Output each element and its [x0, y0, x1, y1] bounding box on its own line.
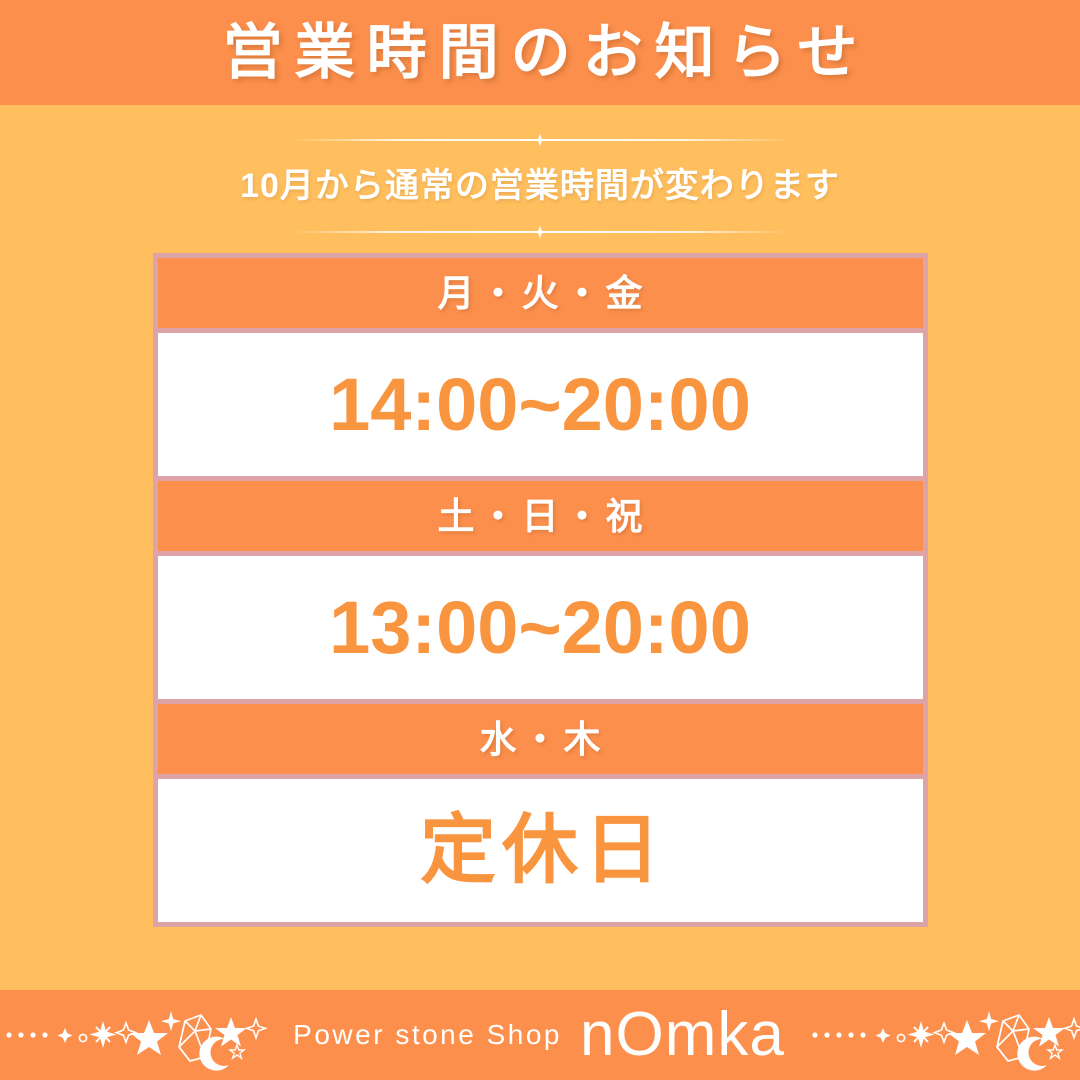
announcement-poster: 営業時間のお知らせ 10月から通常の営業時間が変わります 月・火・金 14:00…	[0, 0, 1080, 1080]
crystal-moon-stars-ornament-icon	[801, 995, 1080, 1075]
page-title: 営業時間のお知らせ	[211, 23, 870, 83]
table-row-header: 土・日・祝	[158, 481, 923, 551]
crystal-moon-stars-ornament-icon	[0, 995, 279, 1075]
table-row-header: 月・火・金	[158, 258, 923, 328]
table-row: 定休日	[158, 779, 923, 922]
shop-label: Power stone Shop	[279, 1019, 580, 1051]
diamond-sparkle-icon	[534, 226, 547, 239]
days-label: 水・木	[475, 721, 606, 758]
hours-value: 14:00~20:00	[329, 368, 751, 442]
divider-top	[290, 133, 790, 147]
subtitle: 10月から通常の営業時間が変わります	[240, 147, 840, 225]
table-row-header: 水・木	[158, 704, 923, 774]
header-band: 営業時間のお知らせ	[0, 0, 1080, 105]
days-label: 月・火・金	[433, 275, 648, 312]
table-row: 13:00~20:00	[158, 556, 923, 699]
schedule-table: 月・火・金 14:00~20:00 土・日・祝 13:00~20:00 水・木 …	[153, 253, 928, 927]
divider-bottom	[290, 225, 790, 239]
table-row: 14:00~20:00	[158, 333, 923, 476]
subtitle-block: 10月から通常の営業時間が変わります	[0, 105, 1080, 239]
schedule-table-wrap: 月・火・金 14:00~20:00 土・日・祝 13:00~20:00 水・木 …	[0, 239, 1080, 990]
days-label: 土・日・祝	[433, 498, 648, 535]
closed-value: 定休日	[414, 813, 666, 889]
brand-name: nOmka	[580, 1004, 801, 1066]
footer-band: Power stone Shop nOmka	[0, 990, 1080, 1080]
hours-value: 13:00~20:00	[329, 591, 751, 665]
diamond-sparkle-icon	[534, 134, 547, 147]
